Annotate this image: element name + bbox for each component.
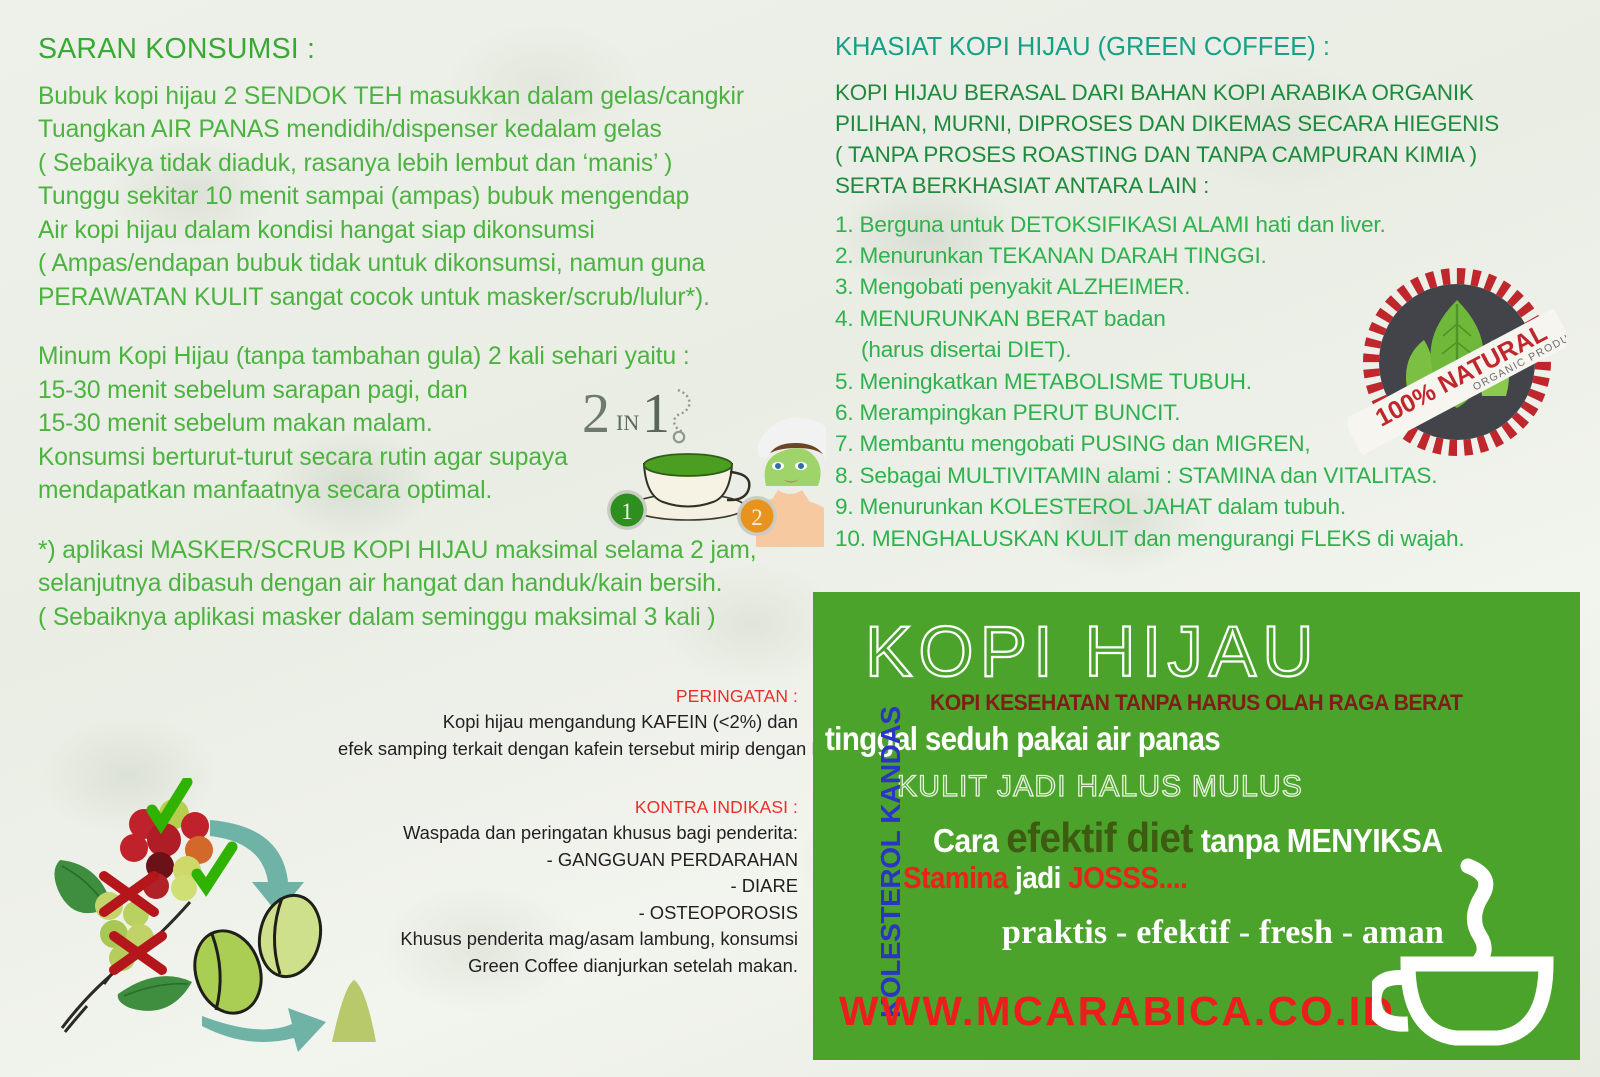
peringatan-title: PERINGATAN :: [338, 684, 798, 709]
saran-line: ( Sebaiknya aplikasi masker dalam seming…: [38, 601, 816, 635]
step-badge-one: 1: [621, 499, 633, 524]
panel-tagline-diet: Cara efektif diet tanpa MENYIKSA: [933, 814, 1443, 862]
kontra-line: - OSTEOPOROSIS: [338, 900, 798, 927]
panel-tagline-dark: KOPI KESEHATAN TANPA HARUS OLAH RAGA BER…: [930, 690, 1463, 716]
kontra-line: Green Coffee dianjurkan setelah makan.: [338, 953, 798, 980]
saran-line: PERAWATAN KULIT sangat cocok untuk maske…: [38, 281, 816, 315]
panel-tagline-stamina: Stamina jadi JOSSS....: [903, 860, 1187, 896]
saran-line: Minum Kopi Hijau (tanpa tambahan gula) 2…: [38, 340, 816, 374]
panel-kolesterol-vertical: KOLESTEROL KANDAS: [875, 728, 907, 1018]
saran-line: selanjutnya dibasuh dengan air hangat da…: [38, 567, 816, 601]
green-coffee-powder: [328, 980, 377, 1048]
saran-line: Tunggu sekitar 10 menit sampai (ampas) b…: [38, 180, 816, 214]
panel-tagline-kulit: KULIT JADI HALUS MULUS: [897, 770, 1303, 804]
label-artwork: SARAN KONSUMSI : Bubuk kopi hijau 2 SEND…: [0, 0, 1600, 1077]
saran-block-mask: *) aplikasi MASKER/SCRUB KOPI HIJAU maks…: [38, 534, 816, 635]
spacer: [38, 314, 816, 340]
website-url[interactable]: WWW.MCARABICA.CO.ID: [839, 988, 1395, 1035]
saran-line: ( Sebaikya tidak diaduk, rasanya lebih l…: [38, 147, 816, 181]
saran-konsumsi-heading: SARAN KONSUMSI :: [38, 32, 816, 68]
100-percent-natural-badge: 100% NATURAL ORGANIC PRODUCT: [1348, 262, 1566, 462]
kontra-line: Khusus penderita mag/asam lambung, konsu…: [338, 926, 798, 953]
saran-line: Bubuk kopi hijau 2 SENDOK TEH masukkan d…: [38, 80, 816, 114]
khasiat-heading: KHASIAT KOPI HIJAU (GREEN COFFEE) :: [835, 32, 1575, 63]
khasiat-intro-line: SERTA BERKHASIAT ANTARA LAIN :: [835, 170, 1575, 201]
kontra-line: - GANGGUAN PERDARAHAN: [338, 847, 798, 874]
benefit-item: 10. MENGHALUSKAN KULIT dan mengurangi FL…: [835, 523, 1575, 554]
peringatan-line: efek samping terkait dengan kafein terse…: [338, 736, 799, 763]
kontra-indikasi-block: KONTRA INDIKASI : Waspada dan peringatan…: [338, 795, 798, 979]
khasiat-intro-line: KOPI HIJAU BERASAL DARI BAHAN KOPI ARABI…: [835, 77, 1575, 108]
two-in-one-word-in: IN: [616, 410, 639, 435]
panel-product-title: KOPI HIJAU: [865, 612, 1320, 693]
kontra-line: - DIARE: [338, 873, 798, 900]
coffee-cup-icon: [1372, 854, 1572, 1060]
stamina-post: JOSSS....: [1068, 860, 1187, 895]
benefit-item: 9. Menurunkan KOLESTEROL JAHAT dalam tub…: [835, 491, 1575, 522]
diet-pre: Cara: [933, 822, 1006, 859]
benefit-item: 1. Berguna untuk DETOKSIFIKASI ALAMI hat…: [835, 209, 1575, 240]
stamina-mid: jadi: [1008, 860, 1068, 895]
two-in-one-digit-2: 2: [582, 383, 610, 445]
stamina-pre: Stamina: [903, 860, 1008, 895]
two-in-one-illustration: 2 IN 1 1 2: [580, 382, 826, 547]
step-badge-two: 2: [751, 505, 763, 530]
diet-highlight: efektif diet: [1006, 814, 1193, 861]
saran-block-brewing: Bubuk kopi hijau 2 SENDOK TEH masukkan d…: [38, 80, 816, 315]
benefit-item: 8. Sebagai MULTIVITAMIN alami : STAMINA …: [835, 460, 1575, 491]
promo-green-panel: KOPI HIJAU KOPI KESEHATAN TANPA HARUS OL…: [813, 592, 1580, 1060]
coffee-process-illustration: [32, 778, 377, 1068]
khasiat-intro-line: PILIHAN, MURNI, DIPROSES DAN DIKEMAS SEC…: [835, 108, 1575, 139]
two-in-one-digit-1: 1: [642, 383, 670, 445]
spacer: [835, 201, 1575, 209]
green-coffee-beans: [185, 890, 328, 1022]
peringatan-block: PERINGATAN : Kopi hijau mengandung KAFEI…: [338, 684, 798, 762]
peringatan-line: Kopi hijau mengandung KAFEIN (<2%) dan: [338, 709, 798, 736]
khasiat-intro-line: ( TANPA PROSES ROASTING DAN TANPA CAMPUR…: [835, 139, 1575, 170]
saran-line: ( Ampas/endapan bubuk tidak untuk dikons…: [38, 247, 816, 281]
saran-line: Air kopi hijau dalam kondisi hangat siap…: [38, 214, 816, 248]
kontra-line: Waspada dan peringatan khusus bagi pende…: [338, 820, 798, 847]
kontra-title: KONTRA INDIKASI :: [338, 795, 798, 820]
saran-line: Tuangkan AIR PANAS mendidih/dispenser ke…: [38, 113, 816, 147]
